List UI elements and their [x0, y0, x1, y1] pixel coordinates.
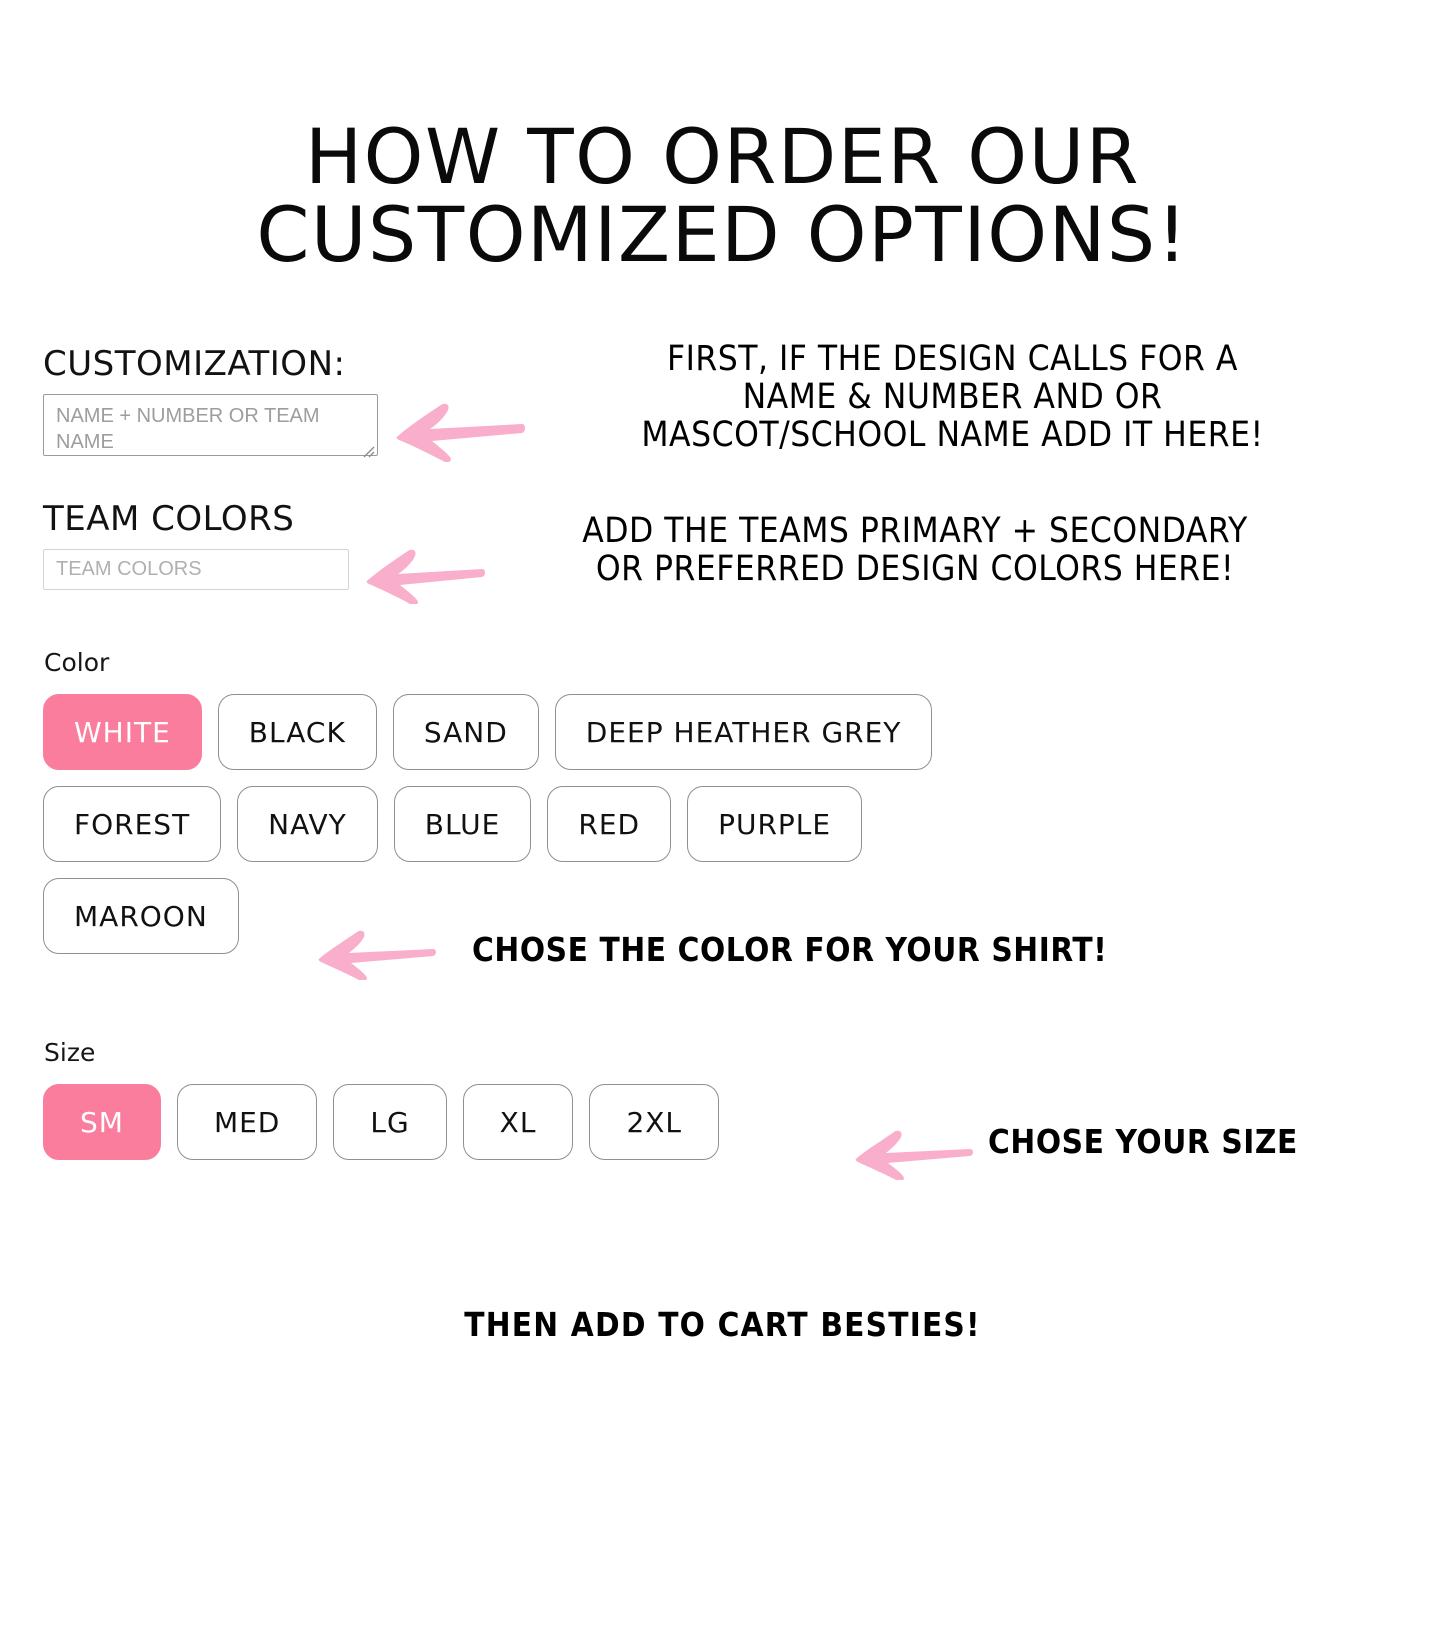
team-colors-input[interactable] — [43, 549, 349, 590]
size-option-group: Size SM MED LG XL 2XL — [43, 1038, 719, 1176]
customization-field-wrapper — [43, 394, 378, 461]
size-option-2xl[interactable]: 2XL — [589, 1084, 719, 1160]
color-option-sand[interactable]: SAND — [393, 694, 539, 770]
size-group-title: Size — [44, 1038, 719, 1068]
color-group-title: Color — [44, 648, 932, 678]
annotation-team-colors-line-1: ADD THE TEAMS PRIMARY + SECONDARY — [470, 512, 1360, 550]
annotation-team-colors-line-2: OR PREFERRED DESIGN COLORS HERE! — [470, 550, 1360, 588]
annotation-team-colors: ADD THE TEAMS PRIMARY + SECONDARY OR PRE… — [470, 512, 1360, 588]
customization-input[interactable] — [43, 394, 378, 456]
annotation-customization: FIRST, IF THE DESIGN CALLS FOR A NAME & … — [545, 340, 1360, 454]
color-option-forest[interactable]: FOREST — [43, 786, 221, 862]
size-option-lg[interactable]: LG — [333, 1084, 446, 1160]
page-title-line-2: CUSTOMIZED OPTIONS! — [0, 196, 1445, 274]
pink-arrow-left-icon — [855, 1128, 975, 1180]
color-option-purple[interactable]: PURPLE — [687, 786, 862, 862]
annotation-customization-line-3: MASCOT/SCHOOL NAME ADD IT HERE! — [545, 416, 1360, 454]
color-option-deep-heather-grey[interactable]: DEEP HEATHER GREY — [555, 694, 933, 770]
color-option-white[interactable]: WHITE — [43, 694, 202, 770]
size-option-xl[interactable]: XL — [463, 1084, 574, 1160]
annotation-size: CHOSE YOUR SIZE — [988, 1122, 1298, 1162]
color-option-group: Color WHITE BLACK SAND DEEP HEATHER GREY… — [43, 648, 932, 970]
color-option-blue[interactable]: BLUE — [394, 786, 532, 862]
annotation-color: CHOSE THE COLOR FOR YOUR SHIRT! — [472, 930, 1107, 970]
color-option-black[interactable]: BLACK — [218, 694, 377, 770]
annotation-customization-line-2: NAME & NUMBER AND OR — [545, 378, 1360, 416]
size-option-sm[interactable]: SM — [43, 1084, 161, 1160]
page-title: HOW TO ORDER OUR CUSTOMIZED OPTIONS! — [0, 118, 1445, 274]
color-option-red[interactable]: RED — [547, 786, 671, 862]
color-row-2: FOREST NAVY BLUE RED PURPLE — [43, 786, 932, 862]
color-option-navy[interactable]: NAVY — [237, 786, 378, 862]
color-option-maroon[interactable]: MAROON — [43, 878, 239, 954]
color-row-1: WHITE BLACK SAND DEEP HEATHER GREY — [43, 694, 932, 770]
size-option-med[interactable]: MED — [177, 1084, 317, 1160]
page-title-line-1: HOW TO ORDER OUR — [0, 118, 1445, 196]
annotation-customization-line-1: FIRST, IF THE DESIGN CALLS FOR A — [545, 340, 1360, 378]
annotation-footer: THEN ADD TO CART BESTIES! — [0, 1305, 1445, 1344]
size-row-1: SM MED LG XL 2XL — [43, 1084, 719, 1160]
